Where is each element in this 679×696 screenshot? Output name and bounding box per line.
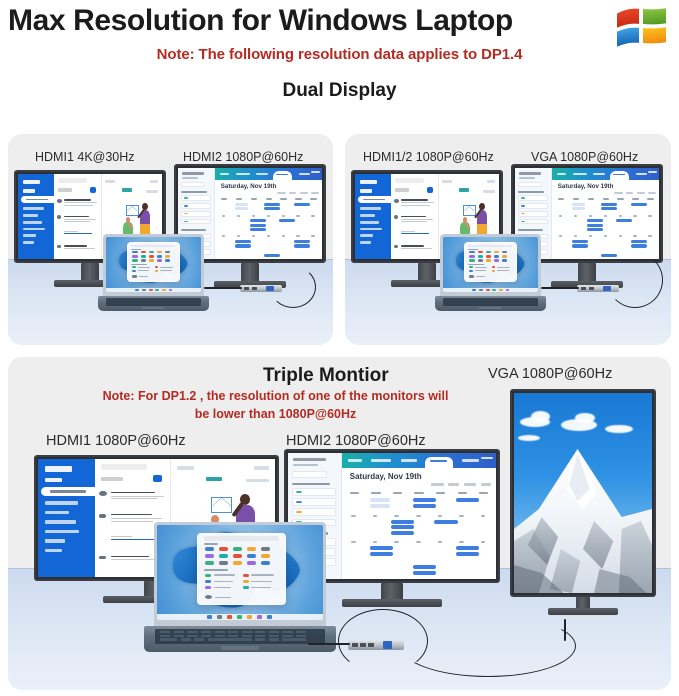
label-hdmi2-1080p60: HDMI2 1080P@60Hz <box>183 150 303 164</box>
calendar-date-title: Saturday, Nov 19th <box>558 183 614 190</box>
triple-monitor-heading: Triple Montior <box>263 365 389 387</box>
label-hdmi1-4k30: HDMI1 4K@30Hz <box>35 150 135 164</box>
label-hdmi1-1080p60: HDMI1 1080P@60Hz <box>46 433 186 449</box>
page-title: Max Resolution for Windows Laptop <box>8 4 513 38</box>
start-menu[interactable] <box>197 533 287 605</box>
cable-hub-monitor <box>270 266 316 308</box>
laptop-screen <box>106 237 201 292</box>
taskbar[interactable] <box>157 614 323 620</box>
laptop-device <box>440 234 541 311</box>
label-hdmi2-1080p60: HDMI2 1080P@60Hz <box>286 433 426 449</box>
label-vga-1080p60: VGA 1080P@60Hz <box>531 150 638 164</box>
triple-note-line2: be lower than 1080P@60Hz <box>195 407 357 421</box>
taskbar[interactable] <box>443 288 538 292</box>
dual-display-section-label: Dual Display <box>0 80 679 102</box>
triple-monitor-panel: Triple Montior VGA 1080P@60Hz Note: For … <box>8 357 671 690</box>
laptop-device <box>154 522 326 652</box>
monitor-screen <box>510 389 656 597</box>
cable-riser-right <box>564 619 566 641</box>
calendar-date-title: Saturday, Nov 19th <box>221 183 277 190</box>
cable-laptop-hub <box>204 287 242 289</box>
header-note: Note: The following resolution data appl… <box>0 46 679 63</box>
cable-laptop-hub <box>541 287 579 289</box>
mountain-photo <box>514 393 652 593</box>
taskbar[interactable] <box>106 288 201 292</box>
laptop-screen <box>443 237 538 292</box>
page-header: Max Resolution for Windows Laptop Note: … <box>0 0 679 120</box>
calendar-date-title: Saturday, Nov 19th <box>350 472 422 481</box>
cable-hub-monitor-right <box>400 615 576 677</box>
dual-display-left-panel: HDMI1 4K@30Hz HDMI2 1080P@60Hz <box>8 134 333 345</box>
start-menu[interactable] <box>464 242 517 282</box>
start-menu[interactable] <box>127 242 180 282</box>
dual-display-right-panel: HDMI1/2 1080P@60Hz VGA 1080P@60Hz <box>345 134 671 345</box>
monitor-vga <box>510 389 656 615</box>
cable-hub-monitor <box>607 252 663 308</box>
laptop-screen <box>157 525 323 620</box>
windows-logo-icon <box>614 2 672 48</box>
triple-note-line1: Note: For DP1.2 , the resolution of one … <box>103 389 449 403</box>
label-vga-1080p60: VGA 1080P@60Hz <box>488 366 612 382</box>
laptop-device <box>103 234 204 311</box>
label-hdmi1-2-1080p60: HDMI1/2 1080P@60Hz <box>363 150 494 164</box>
